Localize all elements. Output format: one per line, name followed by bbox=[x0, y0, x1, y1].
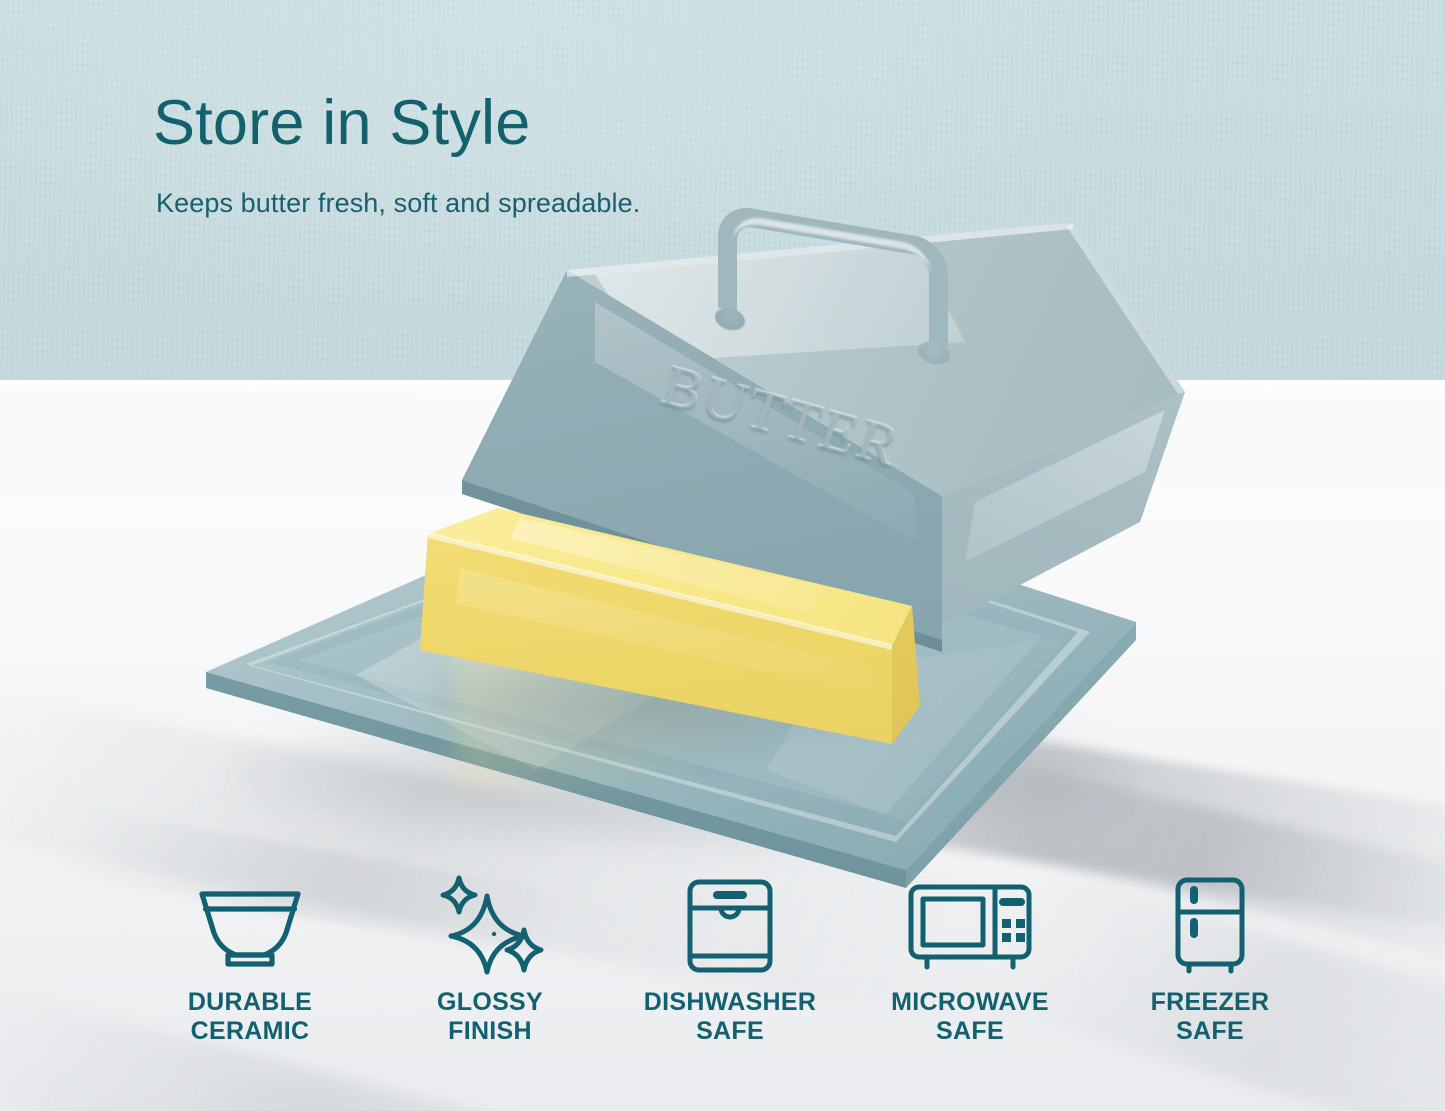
feature-dishwasher-safe: DISHWASHER SAFE bbox=[630, 872, 830, 1046]
feature-microwave-safe: MICROWAVE SAFE bbox=[870, 872, 1070, 1046]
bowl-icon bbox=[194, 872, 306, 980]
feature-label: MICROWAVE SAFE bbox=[891, 988, 1049, 1046]
feature-label: DURABLE CERAMIC bbox=[188, 988, 312, 1046]
microwave-icon bbox=[907, 872, 1033, 980]
freezer-icon bbox=[1173, 872, 1247, 980]
feature-durable-ceramic: DURABLE CERAMIC bbox=[150, 872, 350, 1046]
feature-label: GLOSSY FINISH bbox=[437, 988, 543, 1046]
feature-freezer-safe: FREEZER SAFE bbox=[1110, 872, 1310, 1046]
feature-label: DISHWASHER SAFE bbox=[644, 988, 816, 1046]
dishwasher-icon bbox=[686, 872, 774, 980]
feature-label: FREEZER SAFE bbox=[1151, 988, 1270, 1046]
sparkle-icon bbox=[436, 872, 544, 980]
product-marketing-image: Store in Style Keeps butter fresh, soft … bbox=[0, 0, 1445, 1111]
feature-row: DURABLE CERAMIC GLOSSY FINISH bbox=[150, 872, 1310, 1072]
lid-handle bbox=[718, 222, 948, 327]
butter-stick bbox=[400, 478, 960, 768]
feature-glossy-finish: GLOSSY FINISH bbox=[390, 872, 590, 1046]
